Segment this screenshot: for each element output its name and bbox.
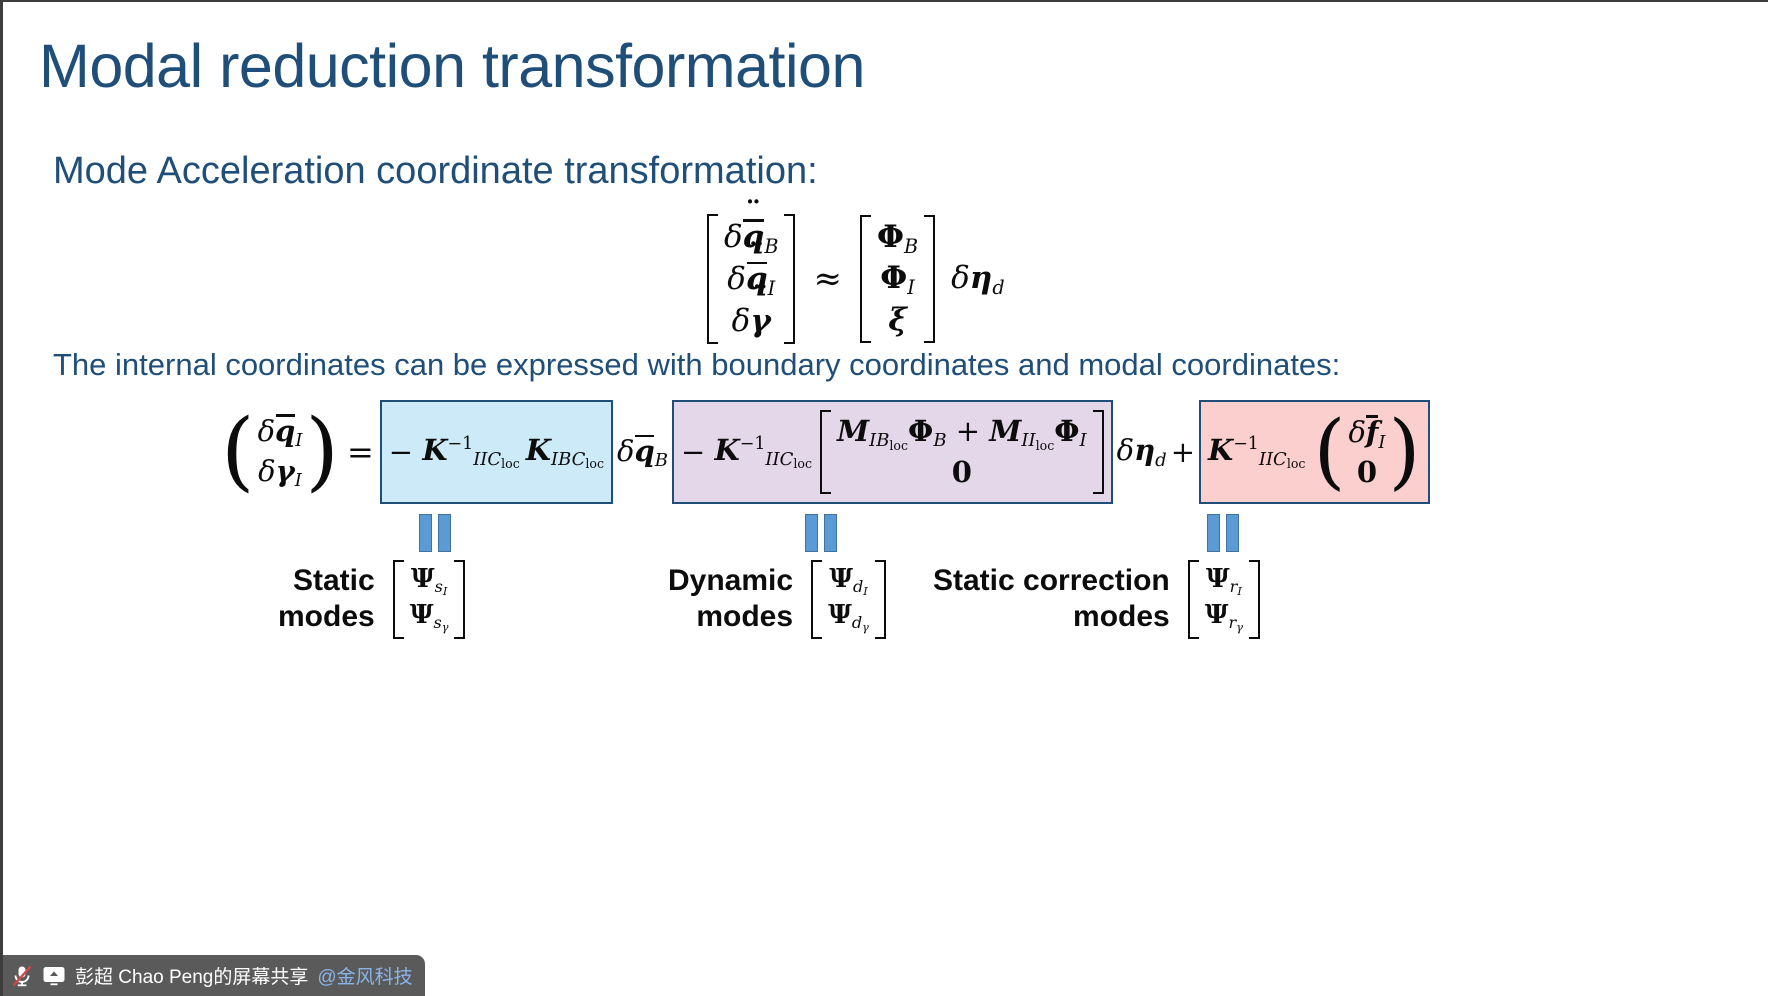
connector-static-modes — [419, 514, 451, 552]
dynamic-modes-matrix-row-2: Ψdγ — [828, 599, 869, 635]
eq2-boundary-coordinate: δqB — [613, 433, 672, 471]
static-correction-row-2: 0 — [1357, 454, 1377, 491]
microphone-muted-icon[interactable] — [11, 964, 33, 988]
share-organization: @金风科技 — [317, 962, 412, 989]
eq1-rhs-row-1: ΦB — [877, 218, 918, 259]
subtitle-internal-coordinates: The internal coordinates can be expresse… — [53, 347, 1340, 383]
static-modes-matrix: ΨsI Ψsγ — [393, 560, 466, 639]
static-correction-modes-label-text: Static correction modes — [933, 563, 1170, 636]
eq2-lhs-vector: ( δqI δγI ) — [221, 412, 339, 492]
static-modes-label-text: Static modes — [278, 563, 375, 636]
dynamic-modes-row-1: MIBlocΦB + MIIlocΦI — [837, 413, 1087, 454]
label-static-modes: Static modes ΨsI Ψsγ — [278, 560, 465, 639]
dynamic-modes-matrix: ΨdI Ψdγ — [811, 560, 886, 639]
share-presenter-name: 彭超 Chao Peng的屏幕共享 — [75, 962, 308, 989]
label-static-correction-modes: Static correction modes ΨrI Ψrγ — [933, 560, 1260, 639]
subtitle-mode-acceleration: Mode Acceleration coordinate transformat… — [53, 150, 818, 193]
static-correction-row-1: δfI — [1348, 413, 1385, 453]
static-correction-modes-matrix-row-2: Ψrγ — [1205, 599, 1243, 635]
screen-share-bar[interactable]: 彭超 Chao Peng的屏幕共享 @金风科技 — [3, 955, 425, 996]
static-correction-K: K−1IICloc — [1208, 433, 1305, 472]
static-modes-K1: K−1IICloc — [422, 433, 519, 472]
static-modes-matrix-row-1: ΨsI — [411, 563, 447, 599]
connector-bar-right — [824, 514, 837, 552]
connector-bar-left — [805, 514, 818, 552]
dynamic-modes-term: − K−1IICloc MIBlocΦB + MIIlocΦI 0 — [672, 400, 1113, 504]
static-correction-modes-matrix: ΨrI Ψrγ — [1188, 560, 1260, 639]
dynamic-modes-label-text: Dynamic modes — [668, 563, 793, 636]
static-correction-paren: ( δfI 0 ) — [1313, 413, 1420, 491]
eq1-lhs-bracket: δqB δqI δγ — [707, 214, 795, 344]
connector-bar-right — [438, 514, 451, 552]
static-modes-K2: KIBCloc — [526, 433, 604, 472]
eq1-lhs-row-3: δγ — [732, 302, 771, 342]
dynamic-modes-matrix-row-1: ΨdI — [829, 563, 868, 599]
eq1-lhs-row-2: δqI — [727, 259, 775, 301]
eq2-lhs-row-2: δγI — [258, 453, 302, 492]
page-title: Modal reduction transformation — [39, 34, 865, 98]
dynamic-modes-K: K−1IICloc — [715, 433, 812, 472]
connector-static-correction-modes — [1207, 514, 1239, 552]
dynamic-modes-bracket: MIBlocΦB + MIIlocΦI 0 — [820, 410, 1104, 494]
eq2-modal-coordinate: δηd — [1113, 433, 1171, 470]
eq2-plus-sign: + — [1171, 435, 1195, 469]
static-modes-minus: − — [389, 435, 423, 469]
static-modes-matrix-row-2: Ψsγ — [410, 599, 449, 635]
eq1-modal-coordinate: δηd — [951, 260, 1005, 299]
dynamic-modes-row-2: 0 — [952, 454, 972, 491]
eq2-lhs-row-1: δqI — [258, 412, 303, 452]
static-correction-modes-matrix-row-1: ΨrI — [1206, 563, 1242, 599]
eq1-rhs-row-2: ΦI — [880, 259, 915, 300]
eq1-rhs-bracket: ΦB ΦI ξ — [860, 215, 935, 343]
screen-share-icon[interactable] — [42, 965, 66, 987]
slide-canvas: Modal reduction transformation Mode Acce… — [0, 0, 1768, 996]
connector-dynamic-modes — [805, 514, 837, 552]
connector-bar-left — [419, 514, 432, 552]
equation-internal-coordinates: ( δqI δγI ) = − K−1IICloc KIBCloc δqB − … — [221, 400, 1430, 504]
static-correction-modes-term: K−1IICloc ( δfI 0 ) — [1199, 400, 1430, 504]
equation-mode-acceleration: δqB δqI δγ ≈ ΦB ΦI ξ δηd — [707, 214, 1005, 344]
label-dynamic-modes: Dynamic modes ΨdI Ψdγ — [668, 560, 886, 639]
static-modes-term: − K−1IICloc KIBCloc — [380, 400, 613, 504]
eq1-approx-sign: ≈ — [813, 259, 842, 299]
dynamic-modes-minus: − — [681, 435, 715, 469]
connector-bar-left — [1207, 514, 1220, 552]
eq2-equals-sign: = — [347, 433, 374, 471]
eq1-rhs-row-3: ξ — [888, 301, 906, 341]
connector-bar-right — [1226, 514, 1239, 552]
